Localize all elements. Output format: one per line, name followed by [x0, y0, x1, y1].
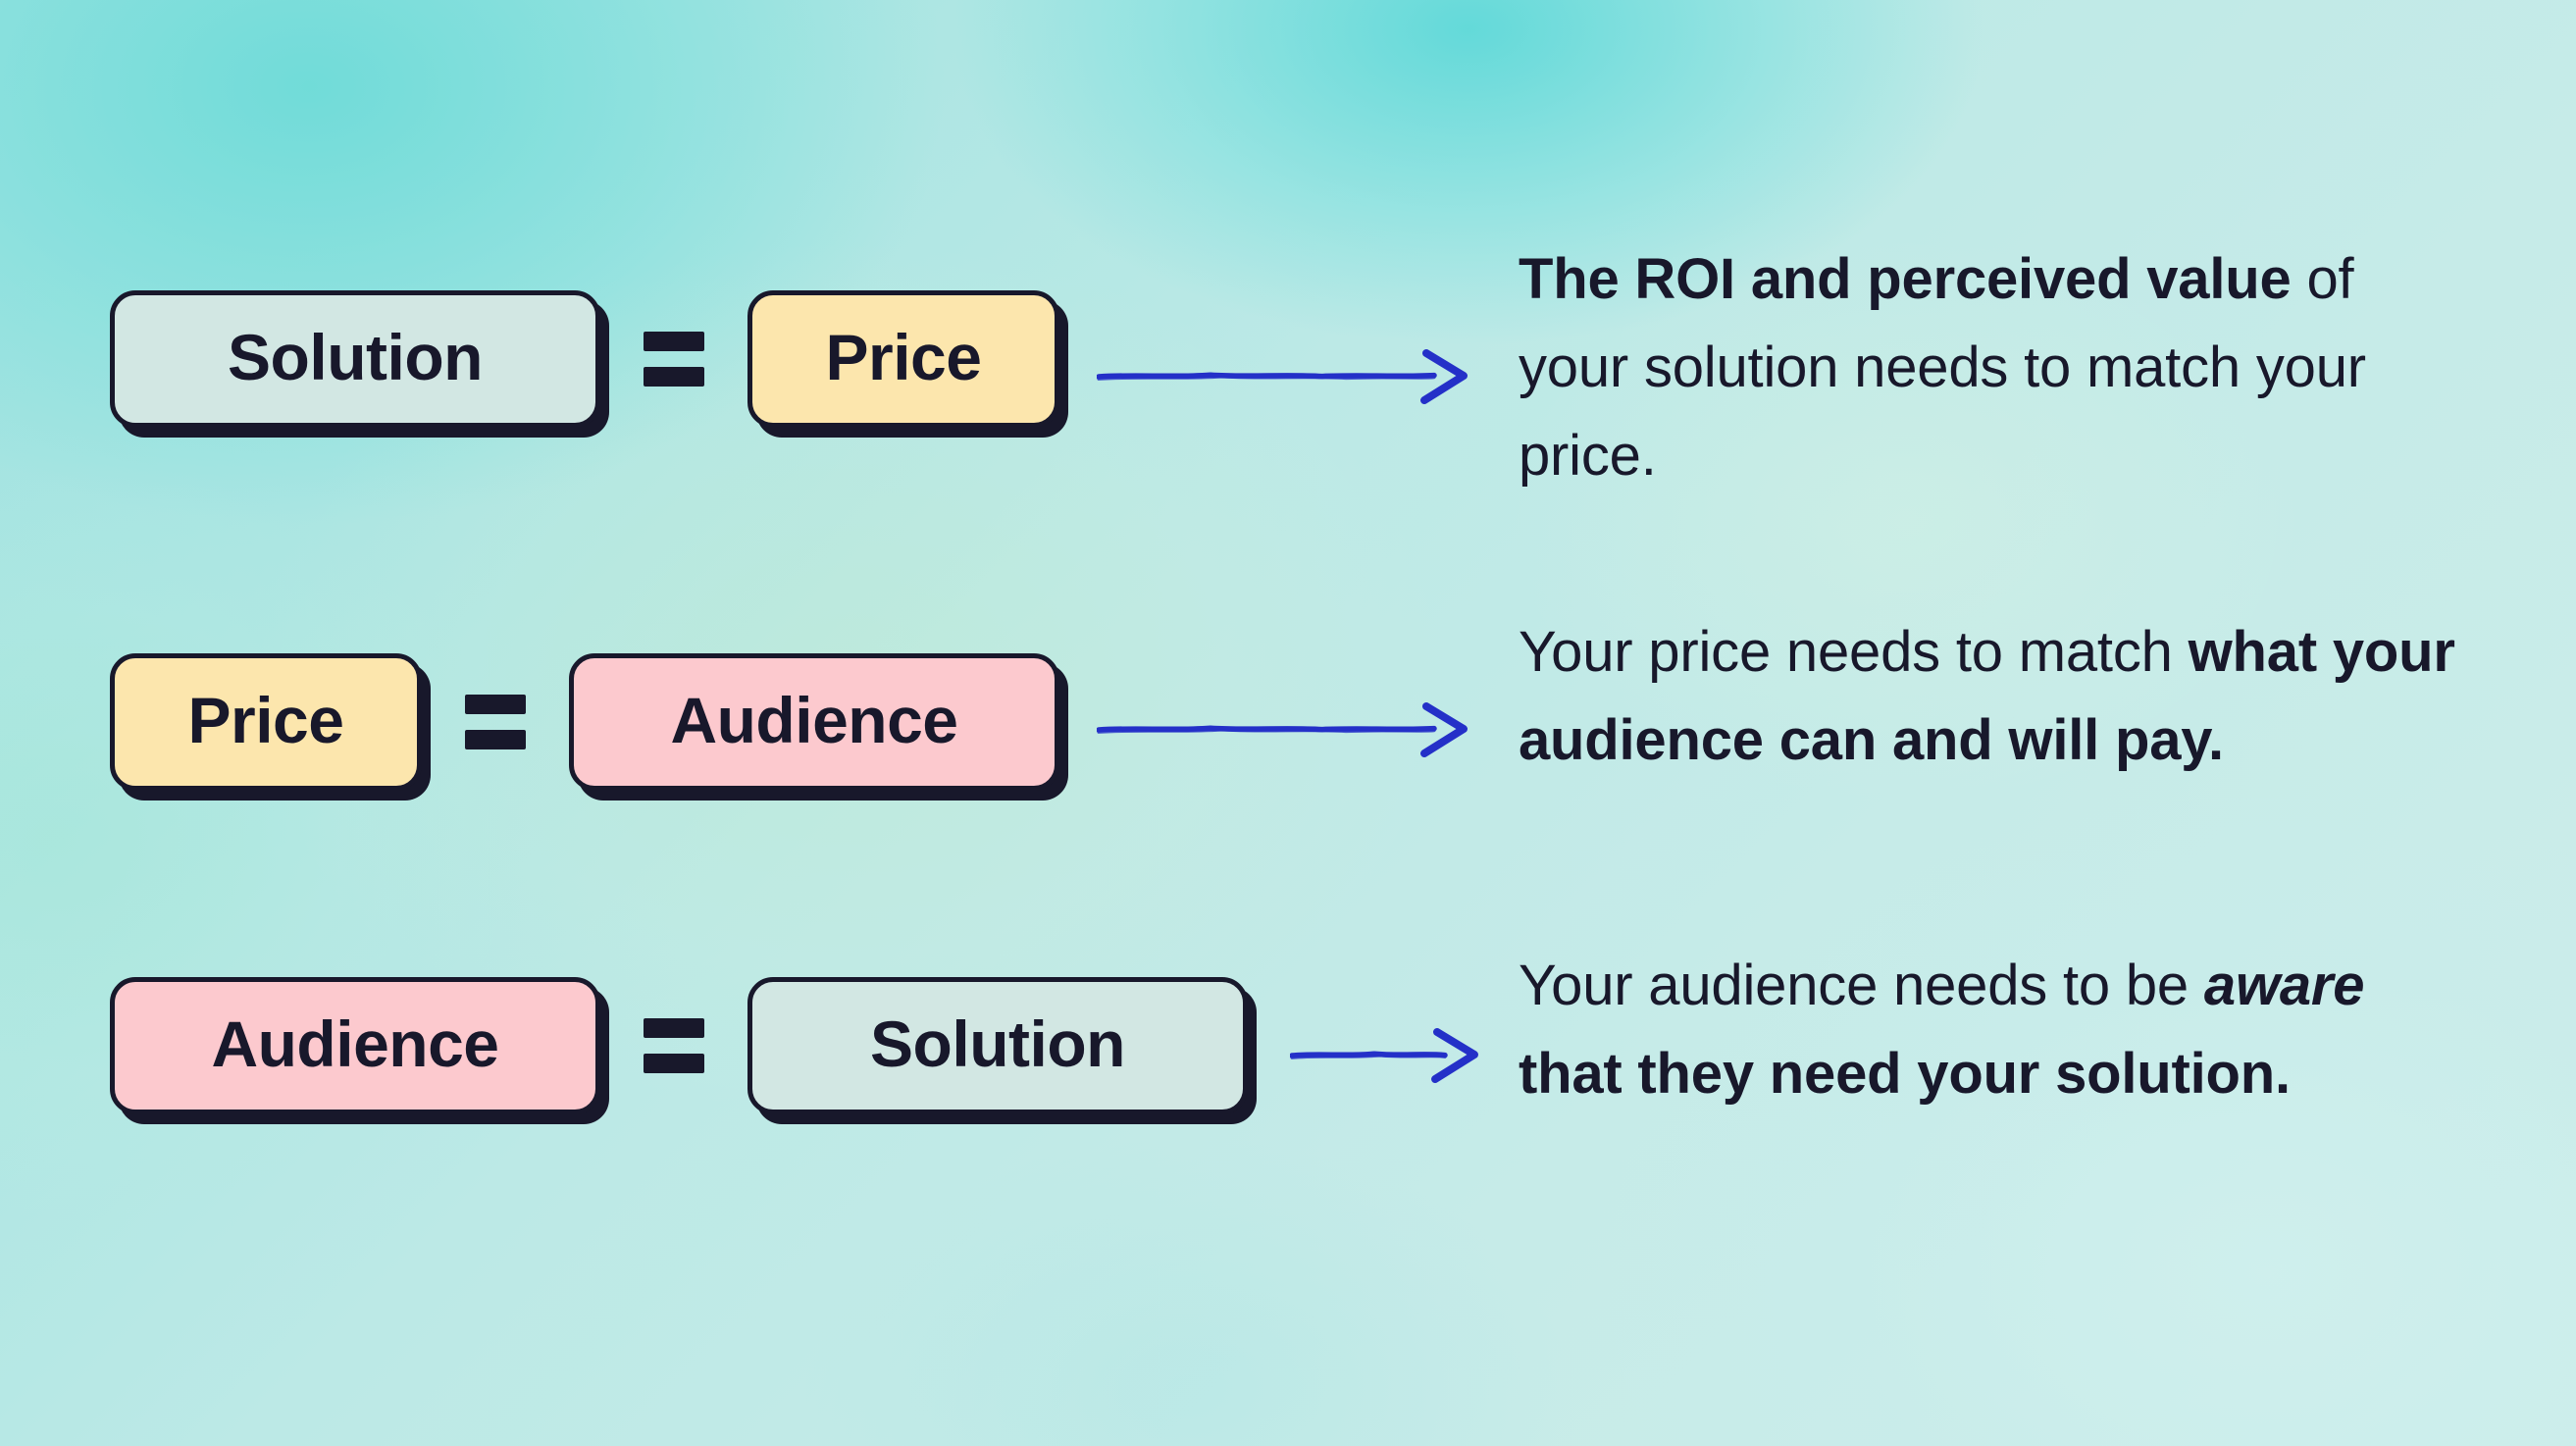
equals-bar-top [644, 1018, 704, 1038]
equals-sign-row3 [644, 1018, 704, 1073]
diagram-canvas: Solution Price The ROI and perceived val… [0, 0, 2576, 1446]
note-text-row1: The ROI and perceived value of your solu… [1519, 235, 2460, 500]
pill-solution-row1[interactable]: Solution [110, 290, 600, 428]
note-segment-bold: The ROI and perceived value [1519, 247, 2306, 311]
pill-label: Price [188, 688, 344, 752]
equation-row-1: Solution Price [110, 290, 1059, 428]
pill-label: Audience [211, 1011, 498, 1076]
pill-label: Price [826, 325, 982, 389]
equals-bar-top [644, 332, 704, 351]
pill-label: Solution [228, 325, 483, 389]
pill-audience-row3[interactable]: Audience [110, 977, 600, 1114]
pill-label: Audience [670, 688, 957, 752]
note-segment-bold-italic: aware [2204, 954, 2364, 1017]
equals-sign-row2 [465, 695, 526, 749]
pill-price-row2[interactable]: Price [110, 653, 422, 791]
equals-sign-row1 [644, 332, 704, 387]
note-segment-regular: Your price needs to match [1519, 620, 2189, 684]
note-segment-regular: Your audience needs to be [1519, 954, 2204, 1017]
arrow-right-icon-row1 [1097, 334, 1489, 416]
equals-bar-top [465, 695, 526, 714]
equation-row-3: Audience Solution [110, 977, 1248, 1114]
note-text-row2: Your price needs to match what your audi… [1519, 608, 2460, 785]
note-segment-bold: that they need your solution. [1519, 1042, 2291, 1106]
equals-bar-bottom [644, 1054, 704, 1073]
equals-bar-bottom [465, 730, 526, 749]
arrow-right-icon-row3 [1290, 1012, 1491, 1095]
pill-label: Solution [870, 1011, 1125, 1076]
pill-price-row1[interactable]: Price [747, 290, 1059, 428]
equation-row-2: Price Audience [110, 653, 1059, 791]
pill-solution-row3[interactable]: Solution [747, 977, 1248, 1114]
equals-bar-bottom [644, 367, 704, 387]
arrow-right-icon-row2 [1097, 687, 1489, 769]
pill-audience-row2[interactable]: Audience [569, 653, 1059, 791]
note-text-row3: Your audience needs to be aware that the… [1519, 942, 2460, 1118]
